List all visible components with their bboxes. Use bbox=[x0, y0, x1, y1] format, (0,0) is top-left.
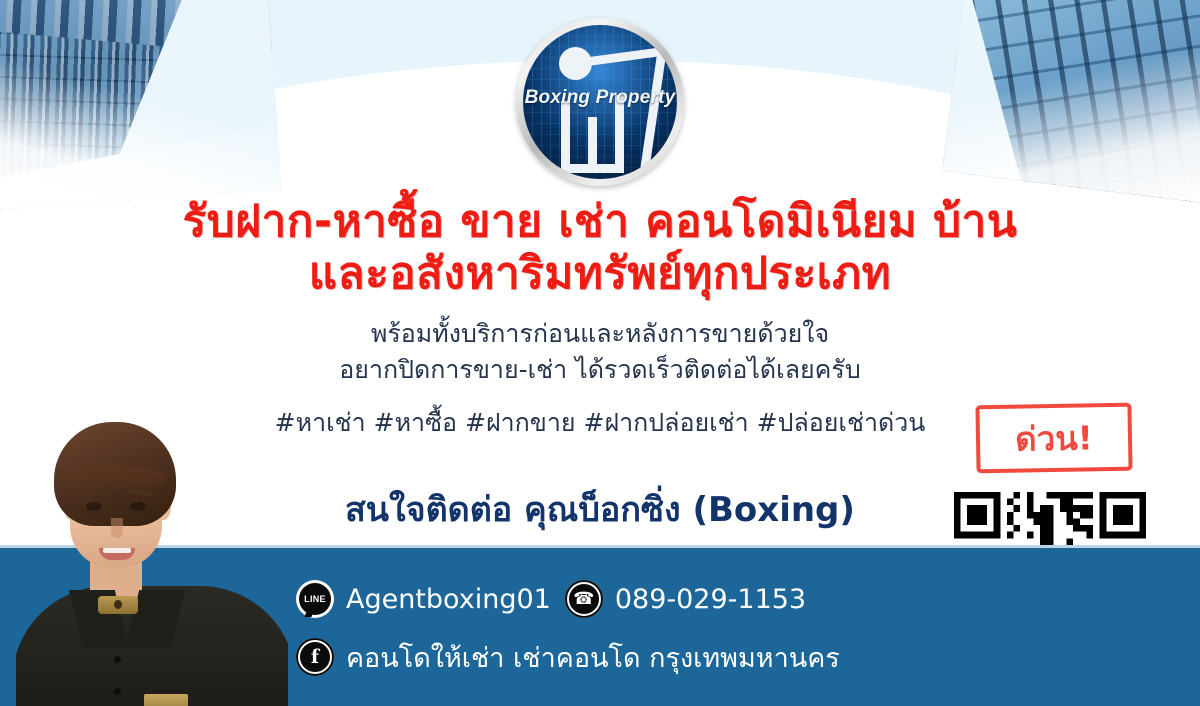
agent-collar-clasp bbox=[98, 596, 138, 614]
building-photo-left bbox=[0, 0, 282, 210]
line-id-value[interactable]: Agentboxing01 bbox=[346, 584, 551, 615]
phone-number-value[interactable]: 089-029-1153 bbox=[615, 584, 806, 615]
brand-logo-disc: Boxing Property bbox=[523, 25, 677, 179]
agent-eye-left bbox=[86, 502, 102, 511]
agent-button-1 bbox=[114, 656, 121, 663]
facebook-icon[interactable]: f bbox=[296, 638, 334, 676]
agent-portrait bbox=[16, 410, 288, 706]
agent-button-2 bbox=[114, 688, 121, 695]
agent-nose bbox=[111, 518, 123, 538]
phone-icon[interactable]: ☎ bbox=[565, 580, 603, 618]
building-right-fade bbox=[942, 0, 1200, 204]
contact-row-facebook: f คอนโดให้เช่า เช่าคอนโด กรุงเทพมหานคร bbox=[296, 628, 936, 686]
building-photo-right bbox=[942, 0, 1200, 204]
agent-name-badge bbox=[144, 694, 188, 706]
subtitle-line-1: พร้อมทั้งบริการก่อนและหลังการขายด้วยใจ bbox=[0, 316, 1200, 352]
agent-hair bbox=[54, 422, 176, 526]
headline-line-1: รับฝาก-หาซื้อ ขาย เช่า คอนโดมิเนียม บ้าน bbox=[0, 196, 1200, 248]
building-left-fade bbox=[0, 0, 282, 210]
agent-eye-right bbox=[130, 502, 146, 511]
contact-row-line: LINE Agentboxing01 ☎ 089-029-1153 bbox=[296, 570, 936, 628]
urgent-stamp: ด่วน! bbox=[975, 403, 1132, 474]
promotional-poster: Boxing Property รับฝาก-หาซื้อ ขาย เช่า ค… bbox=[0, 0, 1200, 706]
subtitle-line-2: อยากปิดการขาย-เช่า ได้รวดเร็วติดต่อได้เล… bbox=[0, 352, 1200, 388]
page-title: รับฝาก-หาซื้อ ขาย เช่า คอนโดมิเนียม บ้าน… bbox=[0, 196, 1200, 300]
subtitle: พร้อมทั้งบริการก่อนและหลังการขายด้วยใจ อ… bbox=[0, 316, 1200, 388]
contact-details: LINE Agentboxing01 ☎ 089-029-1153 f คอนโ… bbox=[296, 570, 936, 686]
brand-logo-text: Boxing Property bbox=[523, 87, 677, 109]
facebook-page-value[interactable]: คอนโดให้เช่า เช่าคอนโด กรุงเทพมหานคร bbox=[346, 636, 840, 679]
line-icon[interactable]: LINE bbox=[296, 580, 334, 618]
brand-logo: Boxing Property bbox=[516, 18, 684, 186]
headline-line-2: และอสังหาริมทรัพย์ทุกประเภท bbox=[0, 248, 1200, 300]
